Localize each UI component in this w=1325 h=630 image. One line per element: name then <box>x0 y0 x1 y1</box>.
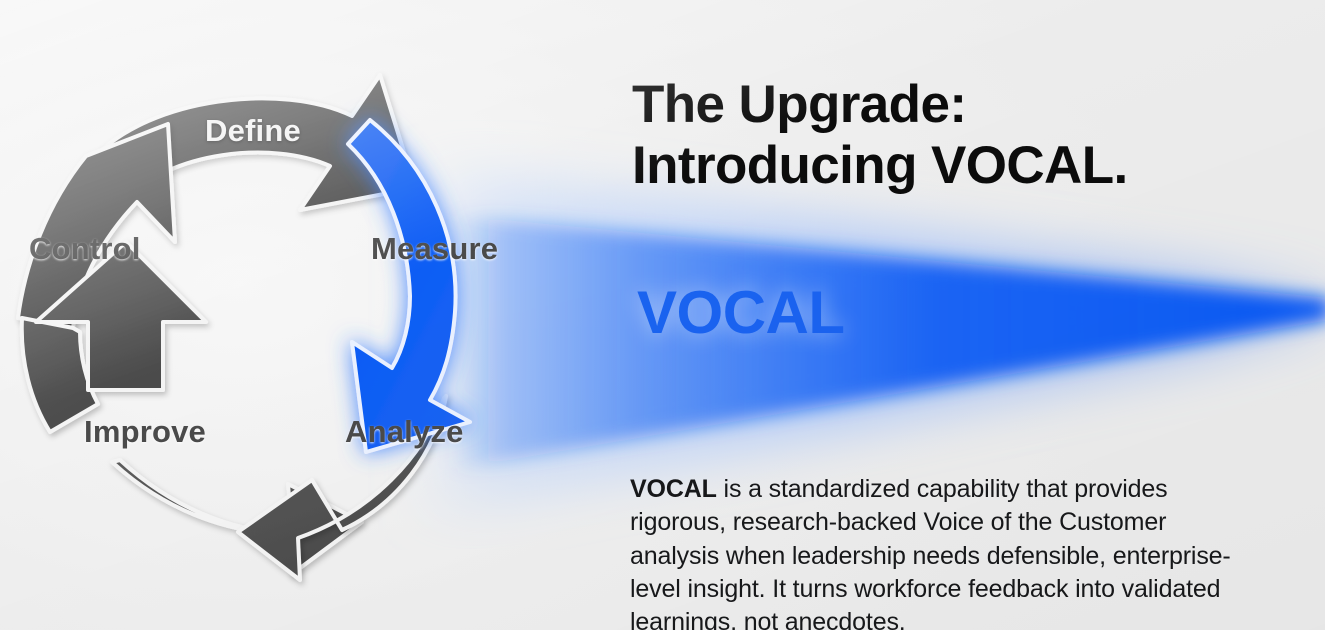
body-rest: is a standardized capability that provid… <box>630 475 1231 630</box>
cycle-label-analyze: Analyze <box>345 414 464 450</box>
cycle-label-improve: Improve <box>84 414 206 450</box>
page-title: The Upgrade: Introducing VOCAL. <box>632 74 1292 197</box>
vocal-wordmark: VOCAL <box>637 278 845 347</box>
cycle-label-measure: Measure <box>371 231 498 267</box>
body-paragraph: VOCAL is a standardized capability that … <box>630 473 1245 630</box>
page-title-line-2: Introducing VOCAL. <box>632 135 1292 196</box>
slide-canvas: Define Measure Analyze Improve Control T… <box>0 0 1325 630</box>
dmaic-cycle: Define Measure Analyze Improve Control <box>0 60 560 590</box>
page-title-line-1: The Upgrade: <box>632 75 966 134</box>
body-lead-term: VOCAL <box>630 475 717 503</box>
cycle-label-define: Define <box>205 113 301 149</box>
cycle-label-control: Control <box>29 231 141 267</box>
beam-core <box>450 215 1325 470</box>
